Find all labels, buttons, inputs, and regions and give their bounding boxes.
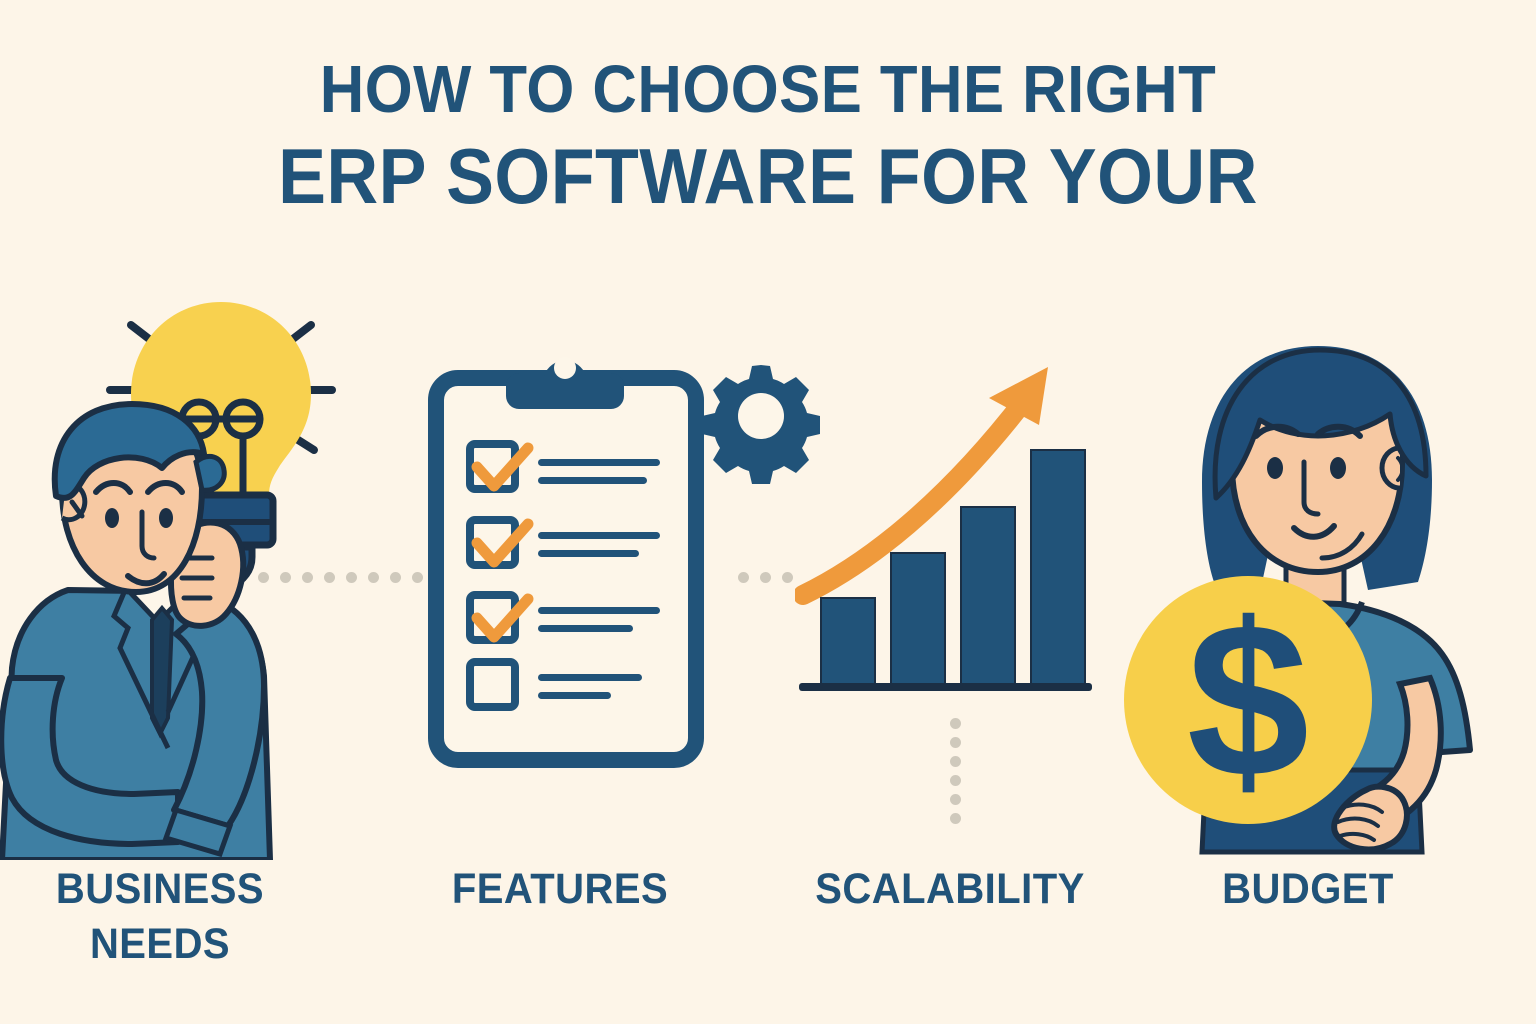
- connector-dot: [324, 572, 335, 583]
- checklist-text-line: [538, 550, 639, 557]
- connector-dot: [302, 572, 313, 583]
- column-label-business-needs: BUSINESS NEEDS: [11, 862, 309, 972]
- dots-business-to-features: [258, 572, 423, 583]
- dots-features-to-scalability: [738, 572, 793, 583]
- chart-baseline: [799, 683, 1092, 691]
- connector-dot: [950, 737, 961, 748]
- clipboard-checklist-with-gear-icon: [420, 340, 830, 780]
- checklist-text-line: [538, 625, 633, 632]
- connector-dot: [950, 794, 961, 805]
- dollar-sign-label: $: [1187, 577, 1309, 823]
- clipboard-clip-icon: [506, 357, 624, 409]
- bar-3: [961, 507, 1015, 685]
- connector-dot: [346, 572, 357, 583]
- connector-dot: [390, 572, 401, 583]
- connector-dot: [258, 572, 269, 583]
- connector-dot: [368, 572, 379, 583]
- connector-dot: [760, 572, 771, 583]
- checklist-text-line: [538, 459, 660, 466]
- connector-dot: [950, 718, 961, 729]
- infographic-canvas: HOW TO CHOOSE THE RIGHT ERP SOFTWARE FOR…: [0, 0, 1536, 1024]
- checklist-text-line: [538, 607, 660, 614]
- checklist-text-line: [538, 532, 660, 539]
- connector-dot: [738, 572, 749, 583]
- connector-dot: [782, 572, 793, 583]
- connector-dot: [950, 813, 961, 824]
- connector-dot: [280, 572, 291, 583]
- necktie-icon: [152, 608, 172, 734]
- title-line-1: HOW TO CHOOSE THE RIGHT: [61, 56, 1474, 123]
- bar-2: [891, 553, 945, 685]
- title-line-2: ERP SOFTWARE FOR YOUR: [61, 137, 1474, 215]
- checklist-text-line: [538, 692, 611, 699]
- checklist-text-line: [538, 477, 647, 484]
- checklist-text-line: [538, 674, 642, 681]
- page-title: HOW TO CHOOSE THE RIGHT ERP SOFTWARE FOR…: [0, 56, 1536, 215]
- connector-dot: [950, 756, 961, 767]
- column-label-budget: BUDGET: [1159, 862, 1457, 917]
- column-label-features: FEATURES: [411, 862, 709, 917]
- growth-bar-chart-with-arrow-icon: [795, 355, 1095, 700]
- column-label-scalability: SCALABILITY: [801, 862, 1099, 917]
- dollar-coin-icon: $: [1124, 576, 1372, 824]
- bar-1: [821, 598, 875, 685]
- woman-holding-dollar-coin-icon: $: [1110, 330, 1510, 860]
- bar-4: [1031, 450, 1085, 685]
- dots-scalability-down: [950, 718, 961, 824]
- connector-dot: [950, 775, 961, 786]
